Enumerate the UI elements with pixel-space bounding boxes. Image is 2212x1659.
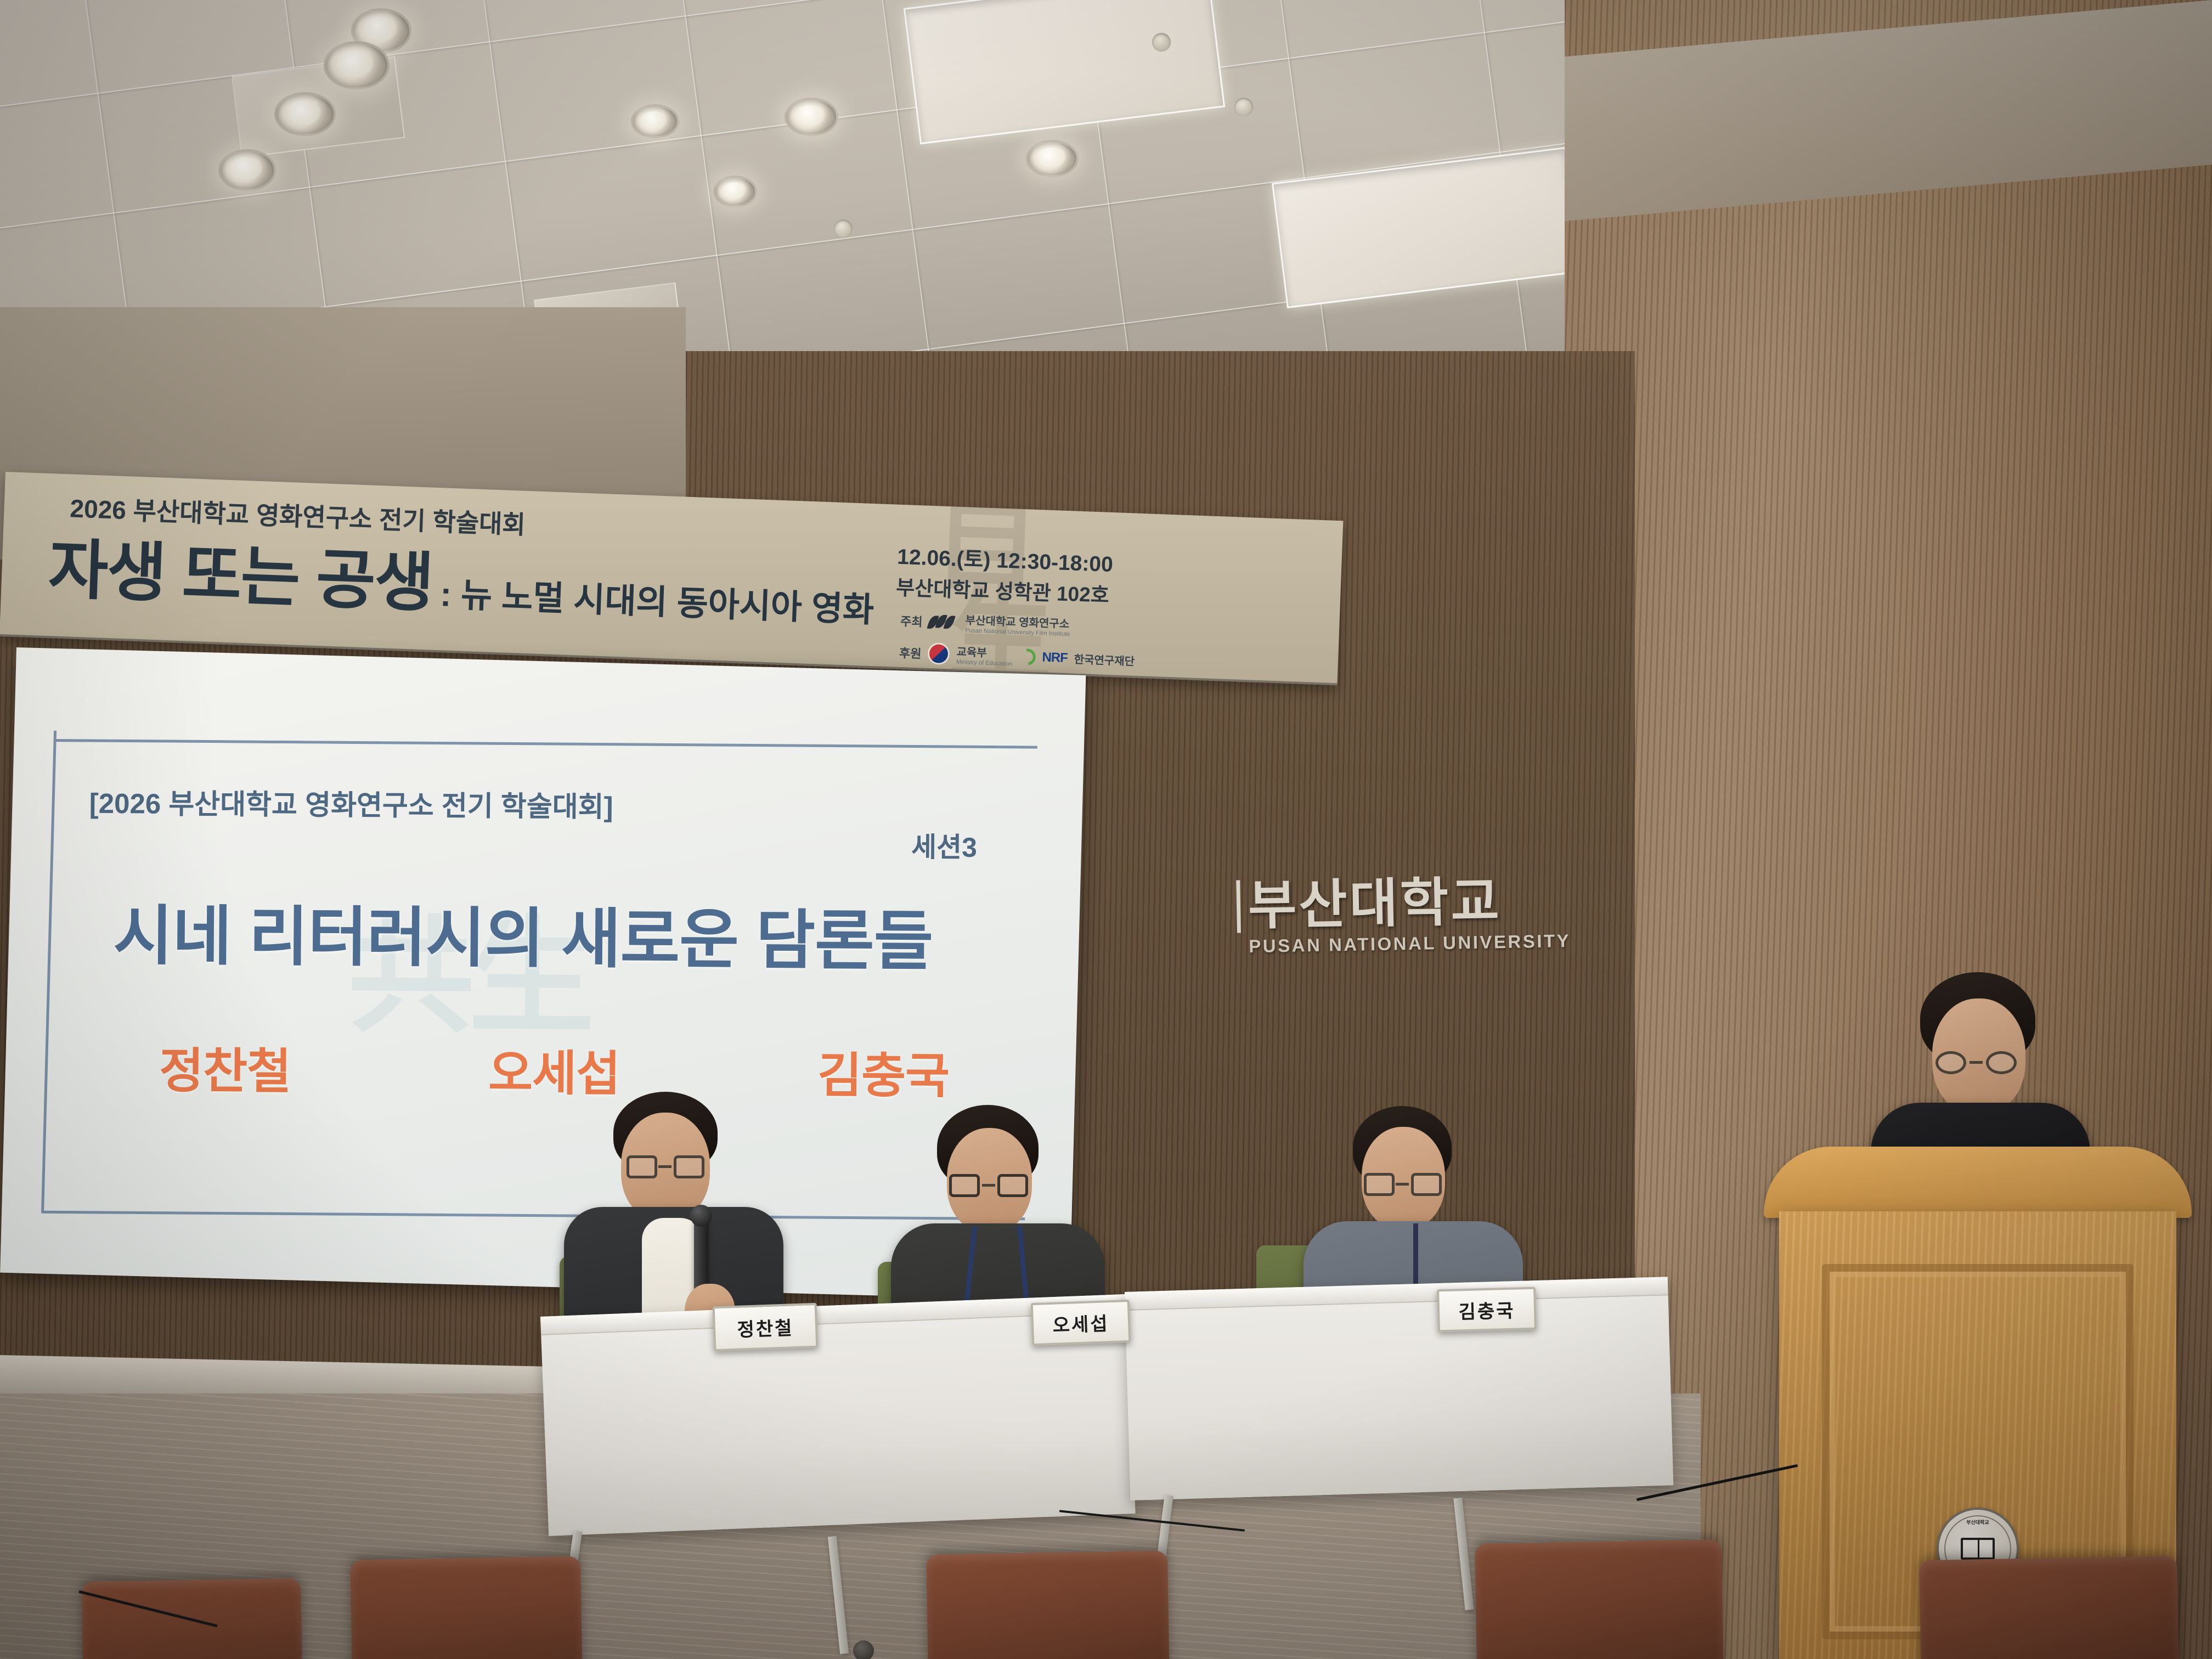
sprinkler-head — [1234, 98, 1253, 116]
banner-title-row: 자생 또는 공생 : 뉴 노멀 시대의 동아시아 영화 — [47, 516, 876, 640]
audience-chair[interactable] — [350, 1556, 583, 1659]
recessed-downlight — [324, 41, 390, 89]
nrf-arc-icon — [1015, 645, 1039, 668]
banner-subtitle: : 뉴 노멀 시대의 동아시아 영화 — [439, 566, 875, 631]
nameplate-panelist-1: 정찬철 — [713, 1303, 819, 1352]
slide-kicker: [2026 부산대학교 영화연구소 전기 학술대회] — [89, 781, 613, 825]
nameplate-2-text: 오세섭 — [1052, 1308, 1109, 1338]
slide-presenter-3: 김충국 — [817, 1036, 950, 1107]
table-front-panel — [1125, 1295, 1673, 1500]
sprinkler-head — [834, 219, 853, 238]
nameplate-3-text: 김충국 — [1458, 1295, 1515, 1324]
nameplate-panelist-2: 오세섭 — [1031, 1300, 1131, 1346]
conference-room-photo: 부산대학교 PUSAN NATIONAL UNIVERSITY 自 生 2026… — [0, 0, 2212, 1659]
slide-presenter-2: 오세섭 — [488, 1034, 620, 1105]
podium-top-cap — [1764, 1147, 2192, 1218]
recessed-downlight — [274, 92, 336, 136]
wall-sign-korean: 부산대학교 — [1236, 875, 1522, 933]
slide-title: 시네 리터러시의 새로운 담론들 — [113, 883, 933, 982]
recessed-downlight — [785, 98, 838, 136]
banner-sponsor-row: 후원 교육부 Ministry of Education NRF 한국연구재단 — [899, 641, 1135, 672]
audience-chair[interactable] — [926, 1550, 1170, 1659]
recessed-downlight — [218, 149, 276, 191]
recessed-downlight — [1026, 140, 1079, 177]
host-label: 주최 — [900, 611, 923, 629]
sponsor2-name: NRF — [1042, 650, 1068, 666]
panelist-2-glasses-icon — [949, 1174, 1032, 1200]
emblem-text-top: 부산대학교 — [1966, 1519, 1989, 1526]
nameplate-panelist-3: 김충국 — [1437, 1287, 1537, 1333]
korea-government-taeguk-icon — [928, 642, 950, 664]
panel-table-right — [1125, 1277, 1673, 1500]
audience-chair[interactable] — [1919, 1556, 2179, 1659]
table-caster-wheel — [853, 1640, 874, 1659]
sprinkler-head — [1152, 33, 1171, 52]
sponsor2-name-ko: 한국연구재단 — [1074, 651, 1135, 669]
slide-border-bottom — [43, 1211, 1025, 1220]
sponsor-label: 후원 — [899, 643, 922, 661]
recessed-downlight — [713, 176, 757, 207]
table-front-panel — [541, 1313, 1135, 1536]
banner-info-block: 12.06.(토) 12:30-18:00 부산대학교 성학관 102호 — [895, 542, 1113, 611]
speaker-glasses-icon — [1936, 1051, 2023, 1077]
wall-signage: 부산대학교 PUSAN NATIONAL UNIVERSITY — [1236, 875, 1523, 992]
wall-sign-english: PUSAN NATIONAL UNIVERSITY — [1237, 931, 1523, 957]
film-institute-logo-icon — [929, 614, 959, 629]
banner-main-title: 자생 또는 공생 — [47, 516, 435, 624]
nameplate-1-text: 정찬철 — [737, 1313, 794, 1342]
emblem-book-icon — [1961, 1538, 1995, 1560]
slide-border-left — [41, 731, 57, 1214]
recessed-downlight — [631, 104, 679, 138]
panelist-1-glasses-icon — [627, 1155, 709, 1181]
projected-slide: 共生 [2026 부산대학교 영화연구소 전기 학술대회] 세션3 시네 리터러… — [0, 647, 1086, 1301]
slide-session-label: 세션3 — [911, 825, 977, 865]
audience-chair[interactable] — [1475, 1539, 1724, 1659]
slide-presenter-names: 정찬철 오세섭 김충국 — [159, 1032, 950, 1107]
sponsor1-name: 교육부 — [956, 646, 987, 659]
sponsor1-block: 교육부 Ministry of Education — [956, 643, 1013, 668]
slide-presenter-1: 정찬철 — [159, 1032, 291, 1103]
host-name-block: 부산대학교 영화연구소 Pusan National University Fi… — [965, 611, 1071, 637]
slide-border-top — [55, 739, 1037, 748]
panelist-3-glasses-icon — [1364, 1173, 1446, 1198]
projection-screen: 共生 [2026 부산대학교 영화연구소 전기 학술대회] 세션3 시네 리터러… — [0, 647, 1086, 1301]
